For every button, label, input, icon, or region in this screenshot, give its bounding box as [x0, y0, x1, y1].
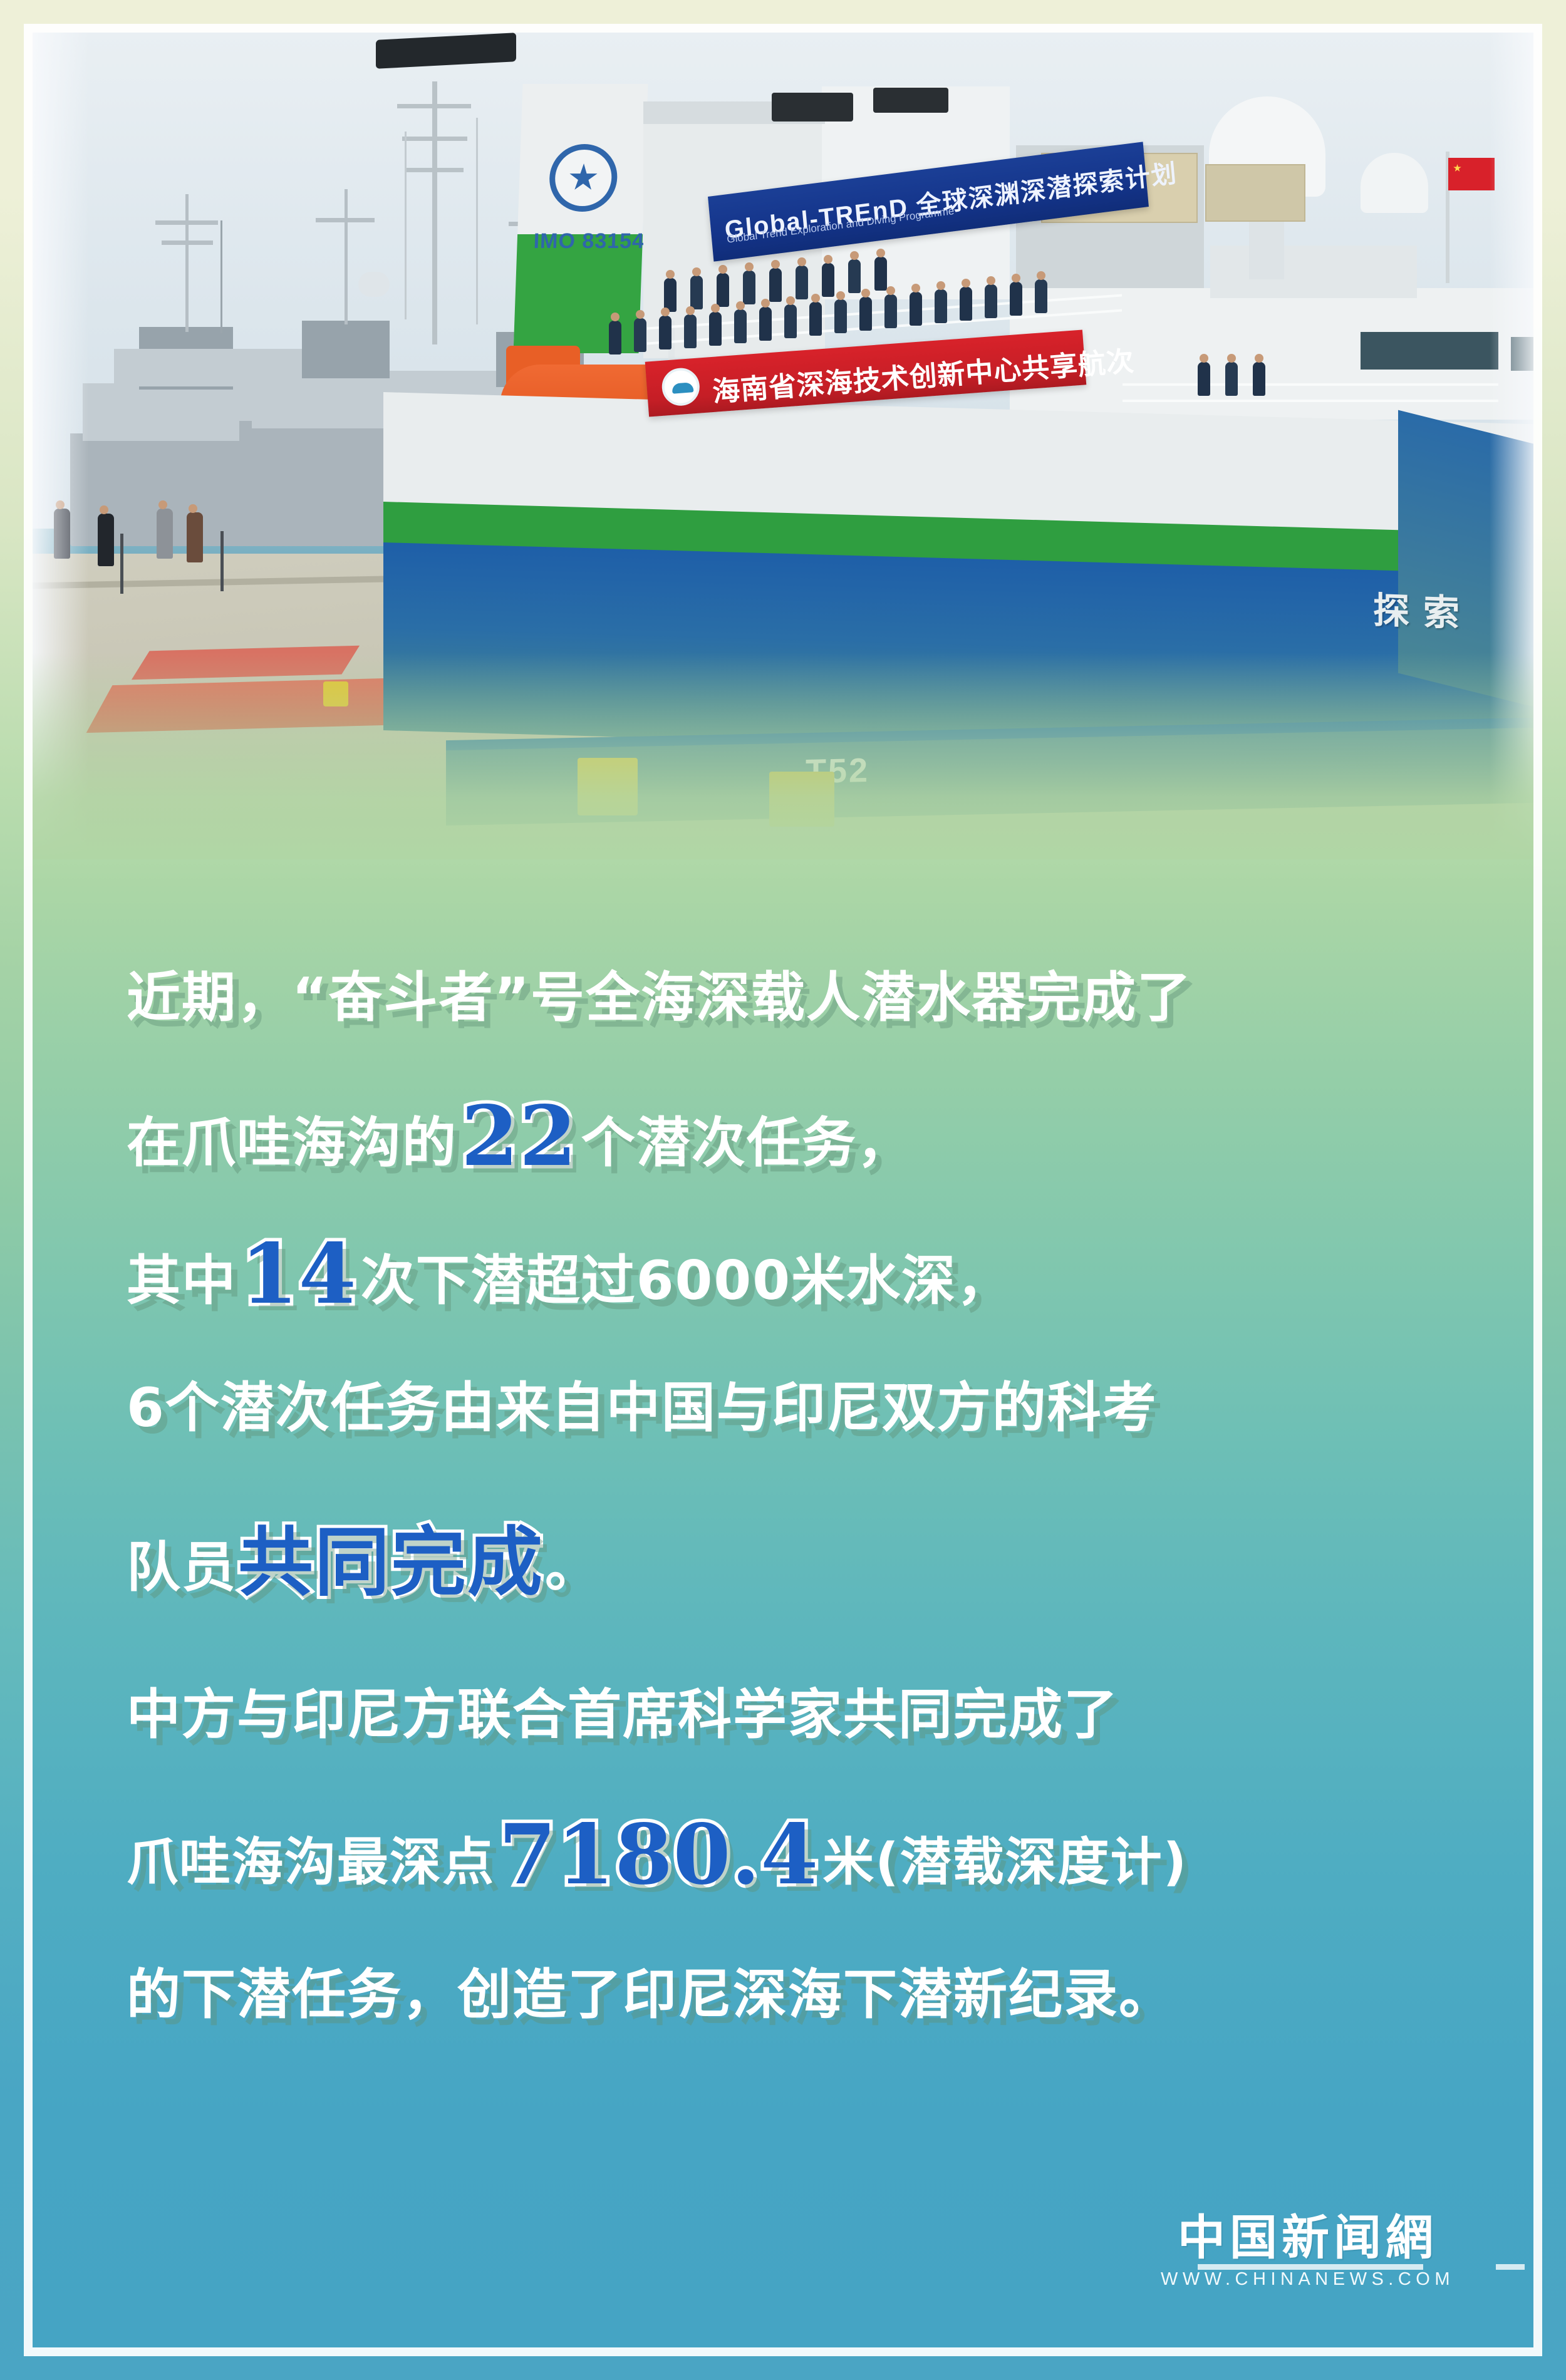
text-run: 6个潜次任务由来自中国与印尼双方的科考 — [127, 1377, 1158, 1439]
text-run: 其中 — [127, 1249, 237, 1312]
figure-max-depth: 7180.4 — [495, 1806, 822, 1903]
brand-logo[interactable]: 中国新闻網 WWW.CHINANEWS.COM — [1161, 2214, 1455, 2290]
text-line-7: 爪哇海沟最深点7180.4米(潜载深度计) — [33, 1806, 1533, 1903]
text-line-5: 队员共同完成。 — [33, 1501, 1533, 1610]
figure-total-dives: 22 — [457, 1088, 581, 1185]
text-run: 队员 — [127, 1536, 237, 1599]
hero-photo: IMO 8315451 — [33, 33, 1533, 859]
poster-canvas: IMO 8315451 — [33, 33, 1533, 2347]
footer: 中国新闻網 WWW.CHINANEWS.COM — [33, 2186, 1533, 2299]
figure-dives-over-6000m: 14 — [237, 1226, 361, 1323]
brand-name-cn: 中国新闻網 — [1161, 2214, 1455, 2262]
text-run: 的下潜任务，创造了印尼深海下潜新纪录。 — [127, 1963, 1174, 2026]
emphasis-joint-completion: 共同完成 — [237, 1519, 545, 1606]
radome-secondary — [1361, 153, 1428, 213]
footer-divider-tail — [1496, 2264, 1525, 2270]
text-run: 次下潜超过6000米水深， — [361, 1249, 1012, 1312]
vessel-name-marking: 探索 — [1373, 581, 1473, 637]
text-run: 。 — [545, 1536, 600, 1599]
text-line-3: 其中14次下潜超过6000米水深， — [33, 1226, 1533, 1323]
text-line-4: 6个潜次任务由来自中国与印尼双方的科考 — [33, 1363, 1533, 1442]
text-run: 爪哇海沟最深点 — [127, 1833, 495, 1892]
poster-root: IMO 8315451 — [0, 0, 1566, 2380]
photo-bottom-fade — [33, 653, 1533, 859]
cas-emblem-icon — [548, 144, 618, 212]
hainan-center-emblem-icon — [661, 367, 701, 407]
photo-scene: IMO 8315451 — [33, 33, 1533, 859]
text-run: 在爪哇海沟的 — [127, 1112, 457, 1174]
imo-label: IMO — [533, 229, 576, 253]
body-text: 近期，“奋斗者”号全海深载人潜水器完成了 在爪哇海沟的22个潜次任务， 其中14… — [33, 953, 1533, 2206]
text-run: 近期，“奋斗者”号全海深载人潜水器完成了 — [127, 966, 1192, 1029]
text-line-6: 中方与印尼方联合首席科学家共同完成了 — [33, 1670, 1533, 1749]
brand-url: WWW.CHINANEWS.COM — [1161, 2269, 1455, 2290]
text-line-8: 的下潜任务，创造了印尼深海下潜新纪录。 — [33, 1950, 1533, 2029]
text-run: 中方与印尼方联合首席科学家共同完成了 — [127, 1684, 1119, 1746]
funnel: IMO 8315451 — [513, 84, 648, 353]
text-line-1: 近期，“奋斗者”号全海深载人潜水器完成了 — [33, 953, 1533, 1032]
text-line-2: 在爪哇海沟的22个潜次任务， — [33, 1088, 1533, 1185]
research-vessel: IMO 8315451 — [383, 58, 1533, 740]
foremast — [432, 81, 437, 344]
text-run: 米(潜载深度计) — [822, 1833, 1188, 1892]
text-run: 个潜次任务， — [581, 1112, 912, 1174]
china-national-flag-icon — [1448, 158, 1495, 190]
